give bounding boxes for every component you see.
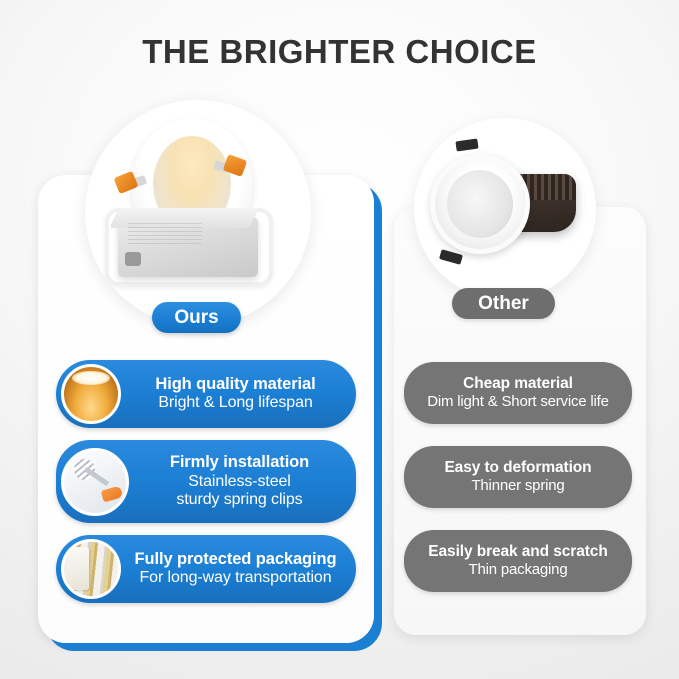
ours-feature-text: Fully protected packaging For long-way t… (121, 550, 356, 588)
other-reflector-cone (421, 145, 540, 264)
other-feature-title: Easy to deformation (444, 459, 591, 478)
ours-feature-subtitle: Bright & Long lifespan (125, 394, 346, 413)
ours-feature-title: Fully protected packaging (125, 550, 346, 569)
ours-feature-row: Fully protected packaging For long-way t… (56, 535, 356, 603)
ours-feature-title: Firmly installation (133, 453, 346, 472)
other-feature-title: Cheap material (463, 375, 573, 394)
ours-feature-subtitle-line1: Stainless-steel (133, 473, 346, 492)
ours-hero-image (85, 100, 311, 326)
other-feature-subtitle: Thin packaging (469, 561, 568, 579)
ours-feature-list: High quality material Bright & Long life… (56, 360, 356, 615)
ours-feature-text: Firmly installation Stainless-steel stur… (129, 453, 356, 509)
warm-glowing-light-icon (61, 364, 121, 424)
page-title: THE BRIGHTER CHOICE (0, 33, 679, 71)
ours-badge-label: Ours (174, 307, 218, 329)
junction-box (118, 217, 258, 277)
ours-feature-subtitle: For long-way transportation (125, 569, 346, 588)
junction-box-label (128, 223, 202, 245)
packaging-carton-icon (61, 539, 121, 599)
junction-box-port (125, 252, 141, 266)
other-feature-row: Easy to deformation Thinner spring (404, 446, 632, 508)
other-hero-image (414, 118, 596, 300)
ours-feature-row: Firmly installation Stainless-steel stur… (56, 440, 356, 523)
other-feature-title: Easily break and scratch (428, 543, 607, 562)
other-feature-list: Cheap material Dim light & Short service… (404, 362, 632, 614)
ours-feature-subtitle-line2: sturdy spring clips (133, 491, 346, 510)
ours-badge: Ours (152, 302, 241, 333)
other-reflector-inner (441, 164, 520, 244)
other-mount-tab-top-icon (455, 139, 478, 152)
spring-clip-icon (61, 448, 129, 516)
ours-feature-row: High quality material Bright & Long life… (56, 360, 356, 428)
ours-feature-text: High quality material Bright & Long life… (121, 375, 356, 413)
other-feature-row: Cheap material Dim light & Short service… (404, 362, 632, 424)
other-feature-row: Easily break and scratch Thin packaging (404, 530, 632, 592)
other-feature-subtitle: Thinner spring (471, 477, 564, 495)
other-mount-tab-bottom-icon (439, 249, 463, 265)
other-badge: Other (452, 288, 555, 319)
other-feature-subtitle: Dim light & Short service life (427, 393, 609, 411)
other-badge-label: Other (478, 293, 529, 315)
ours-feature-title: High quality material (125, 375, 346, 394)
